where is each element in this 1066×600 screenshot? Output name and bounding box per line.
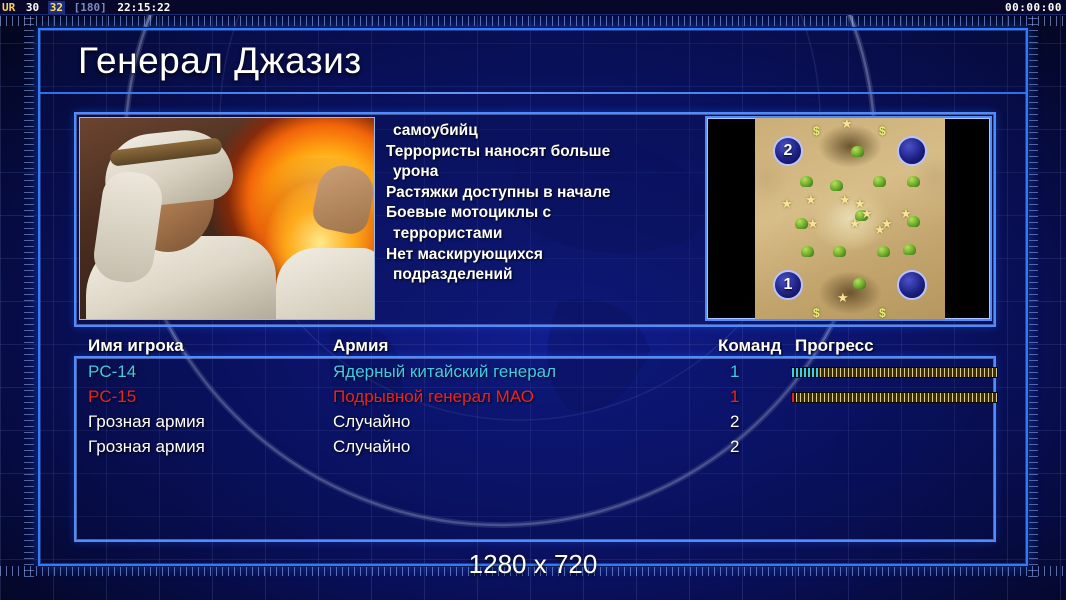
cell-army: Случайно xyxy=(333,412,410,432)
cell-team: 2 xyxy=(730,437,739,457)
description-line: Боевые мотоциклы с xyxy=(386,203,698,224)
table-row[interactable]: PC-15Подрывной генерал МАО1 xyxy=(74,387,996,412)
table-row[interactable]: Грозная армияСлучайно2 xyxy=(74,437,996,462)
map-tree-icon xyxy=(877,246,890,257)
table-row[interactable]: PC-14Ядерный китайский генерал1 xyxy=(74,362,996,387)
title-divider xyxy=(40,92,1026,94)
map-start-position xyxy=(897,270,927,300)
cell-player-name: Грозная армия xyxy=(88,437,205,457)
map-start-position: 2 xyxy=(773,136,803,166)
map-start-position: 1 xyxy=(773,270,803,300)
cell-player-name: PC-15 xyxy=(88,387,136,407)
header-progress: Прогресс xyxy=(795,336,874,356)
match-timer: 00:00:00 xyxy=(1005,0,1062,15)
load-progress-bar xyxy=(791,392,998,403)
load-progress-fill xyxy=(792,368,819,377)
description-line: подразделений xyxy=(386,265,698,286)
map-tree-icon xyxy=(851,146,864,157)
map-tree-icon xyxy=(830,180,843,191)
map-tree-icon xyxy=(907,176,920,187)
cell-team: 1 xyxy=(730,387,739,407)
header-team: Команд xyxy=(718,336,781,356)
ruler-ticks-top xyxy=(0,16,1066,26)
map-supply-icon: $ xyxy=(813,306,820,320)
fps-limit: [180] xyxy=(72,1,109,14)
map-supply-icon: $ xyxy=(813,124,820,138)
fps-label: UR xyxy=(0,1,17,14)
description-line: Растяжки доступны в начале xyxy=(386,183,698,204)
cell-army: Ядерный китайский генерал xyxy=(333,362,556,382)
cell-army: Случайно xyxy=(333,437,410,457)
map-tree-icon xyxy=(800,176,813,187)
map-tree-icon xyxy=(853,278,866,289)
map-tree-icon xyxy=(873,176,886,187)
description-line: самоубийц xyxy=(386,121,698,142)
general-description: самоубийцТеррористы наносят большеуронаР… xyxy=(386,117,698,320)
cell-player-name: Грозная армия xyxy=(88,412,205,432)
page-title: Генерал Джазиз xyxy=(78,40,362,82)
fps-current: 30 xyxy=(24,1,41,14)
ruler-ticks-right xyxy=(1028,18,1038,578)
header-player-name: Имя игрока xyxy=(88,336,184,356)
cell-army: Подрывной генерал МАО xyxy=(333,387,534,407)
map-tree-icon xyxy=(903,244,916,255)
debug-status-bar: UR 30 32 [180] 22:15:22 00:00:00 xyxy=(0,0,1066,15)
resolution-label: 1280 x 720 xyxy=(0,549,1066,580)
map-preview[interactable]: 21$$$$ xyxy=(705,116,992,321)
fps-target: 32 xyxy=(48,1,65,14)
load-progress-bar xyxy=(791,367,998,378)
table-row[interactable]: Грозная армияСлучайно2 xyxy=(74,412,996,437)
game-lobby-screen: UR 30 32 [180] 22:15:22 00:00:00 Генерал… xyxy=(0,0,1066,600)
description-line: Нет маскирующихся xyxy=(386,245,698,266)
map-supply-icon: $ xyxy=(879,124,886,138)
map-start-position xyxy=(897,136,927,166)
ruler-ticks-left xyxy=(24,18,34,578)
general-portrait xyxy=(79,117,375,320)
description-line: урона xyxy=(386,162,698,183)
general-info-panel: самоубийцТеррористы наносят большеуронаР… xyxy=(74,112,996,327)
map-tree-icon xyxy=(833,246,846,257)
map-tree-icon xyxy=(801,246,814,257)
cell-player-name: PC-14 xyxy=(88,362,136,382)
system-clock: 22:15:22 xyxy=(115,1,172,14)
player-table-headers: Имя игрока Армия Команд Прогресс xyxy=(74,336,996,358)
map-terrain: 21$$$$ xyxy=(755,118,945,319)
cell-team: 1 xyxy=(730,362,739,382)
description-line: Террористы наносят больше xyxy=(386,142,698,163)
header-army: Армия xyxy=(333,336,388,356)
load-progress-fill xyxy=(792,393,796,402)
cell-team: 2 xyxy=(730,412,739,432)
map-supply-icon: $ xyxy=(879,306,886,320)
description-line: террористами xyxy=(386,224,698,245)
